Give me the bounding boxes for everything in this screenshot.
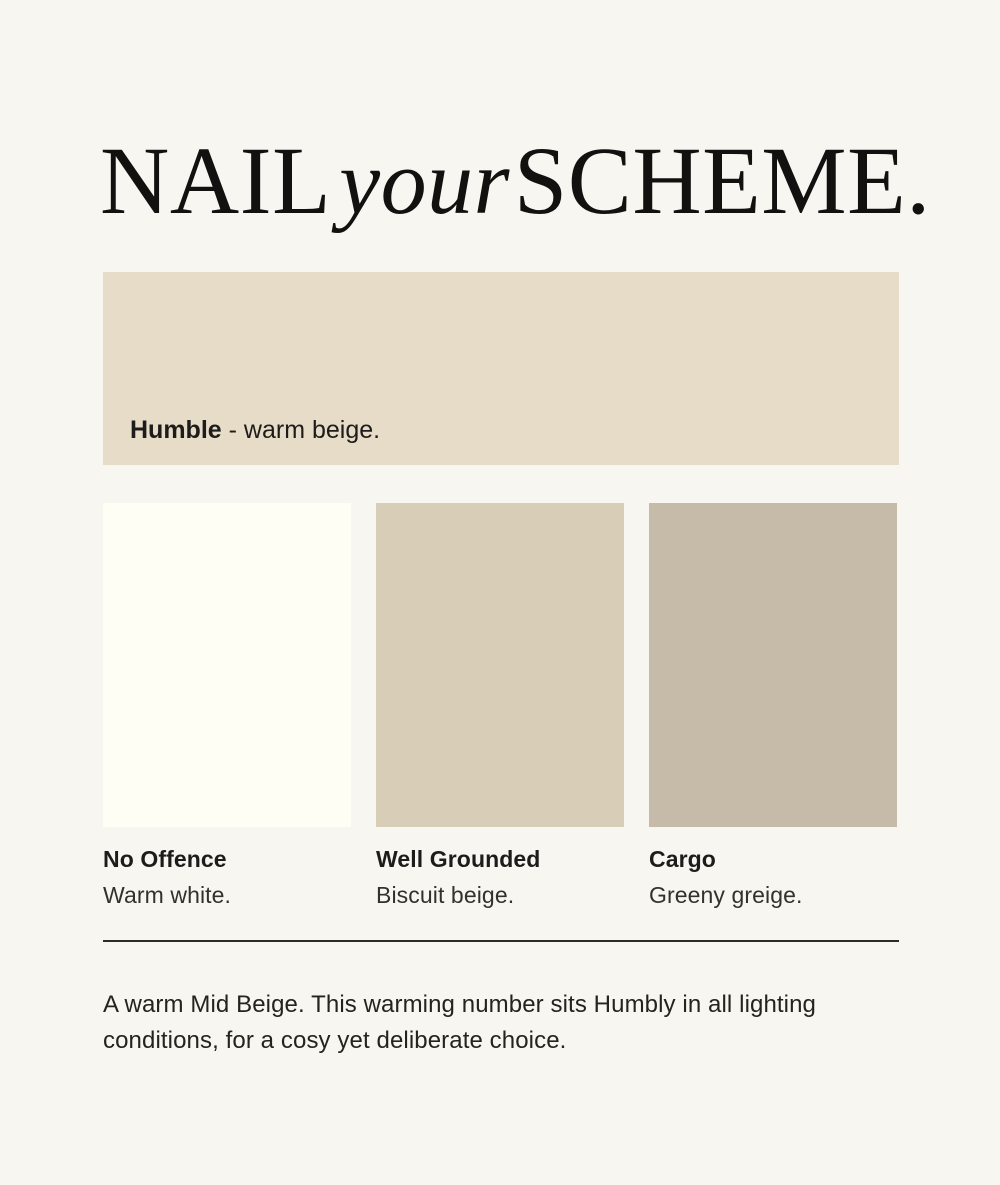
feature-swatch-description: - warm beige. (222, 416, 380, 444)
swatch-description: Warm white. (103, 880, 351, 911)
swatch-description: Greeny greige. (649, 880, 897, 911)
scheme-description: A warm Mid Beige. This warming number si… (103, 987, 893, 1059)
swatch-name: No Offence (103, 844, 351, 875)
swatch-chip-well-grounded[interactable] (376, 503, 624, 827)
swatch-name: Well Grounded (376, 844, 624, 875)
page-title-word-2: SCHEME. (514, 127, 931, 234)
palette-item[interactable]: Well Grounded Biscuit beige. (376, 503, 624, 911)
swatch-description: Biscuit beige. (376, 880, 624, 911)
palette-swatch-row: No Offence Warm white. Well Grounded Bis… (103, 503, 899, 911)
feature-swatch-label: Humble - warm beige. (130, 416, 380, 445)
palette-item[interactable]: No Offence Warm white. (103, 503, 351, 911)
feature-swatch-name: Humble (130, 416, 222, 444)
swatch-chip-cargo[interactable] (649, 503, 897, 827)
palette-item[interactable]: Cargo Greeny greige. (649, 503, 897, 911)
page-title-word-italic: your (331, 131, 514, 233)
colour-scheme-card: NAILyourSCHEME. Humble - warm beige. No … (0, 0, 1000, 1185)
section-divider (103, 940, 899, 942)
feature-swatch-humble[interactable]: Humble - warm beige. (103, 272, 899, 465)
page-title-word-1: NAIL (100, 127, 331, 234)
swatch-chip-no-offence[interactable] (103, 503, 351, 827)
swatch-name: Cargo (649, 844, 897, 875)
page-title: NAILyourSCHEME. (100, 133, 931, 229)
